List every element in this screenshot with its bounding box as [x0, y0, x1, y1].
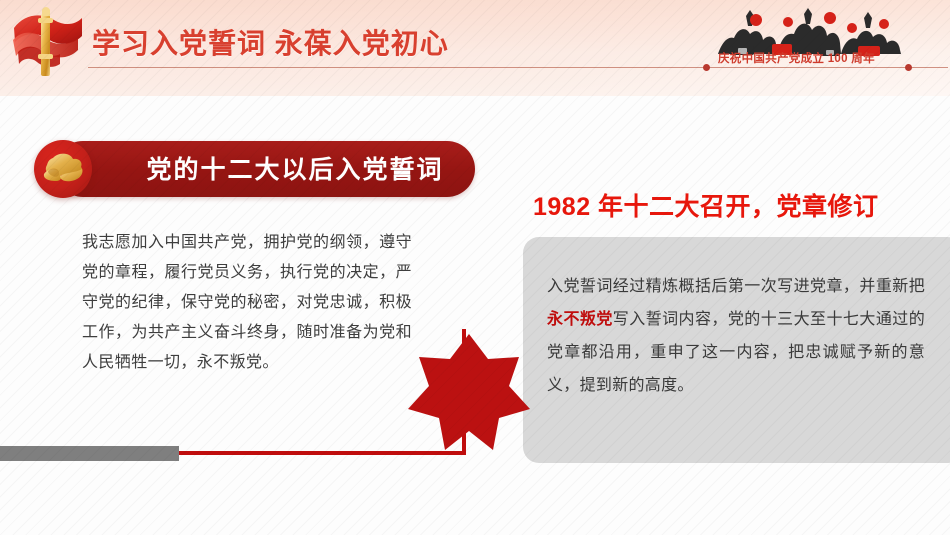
- right-heading: 1982 年十二大召开，党章修订: [533, 187, 879, 223]
- celebration-crowd-illustration: [712, 6, 912, 58]
- anniversary-label: 庆祝中国共产党成立 100 周年: [718, 52, 910, 67]
- header-divider-line: [88, 67, 948, 68]
- seven-point-red-star: [404, 330, 534, 455]
- page-title: 学习入党誓词 永葆入党初心: [92, 22, 449, 62]
- header-dot-left: [703, 64, 710, 71]
- section-badge-label: 党的十二大以后入党誓词: [120, 155, 470, 185]
- auspicious-cloud-icon: [40, 150, 86, 188]
- info-panel-paragraph: 入党誓词经过精炼概括后第一次写进党章，并重新把永不叛党写入誓词内容，党的十三大至…: [547, 270, 925, 402]
- red-flag-torch-emblem: [8, 6, 90, 84]
- paragraph-part-1: 入党誓词经过精炼概括后第一次写进党章，并重新把: [547, 278, 925, 295]
- connector-gray-bar: [0, 446, 179, 461]
- slide-canvas: 学习入党誓词 永葆入党初心 庆祝中国共产党成立 100 周年: [0, 0, 950, 535]
- paragraph-highlight: 永不叛党: [547, 311, 613, 328]
